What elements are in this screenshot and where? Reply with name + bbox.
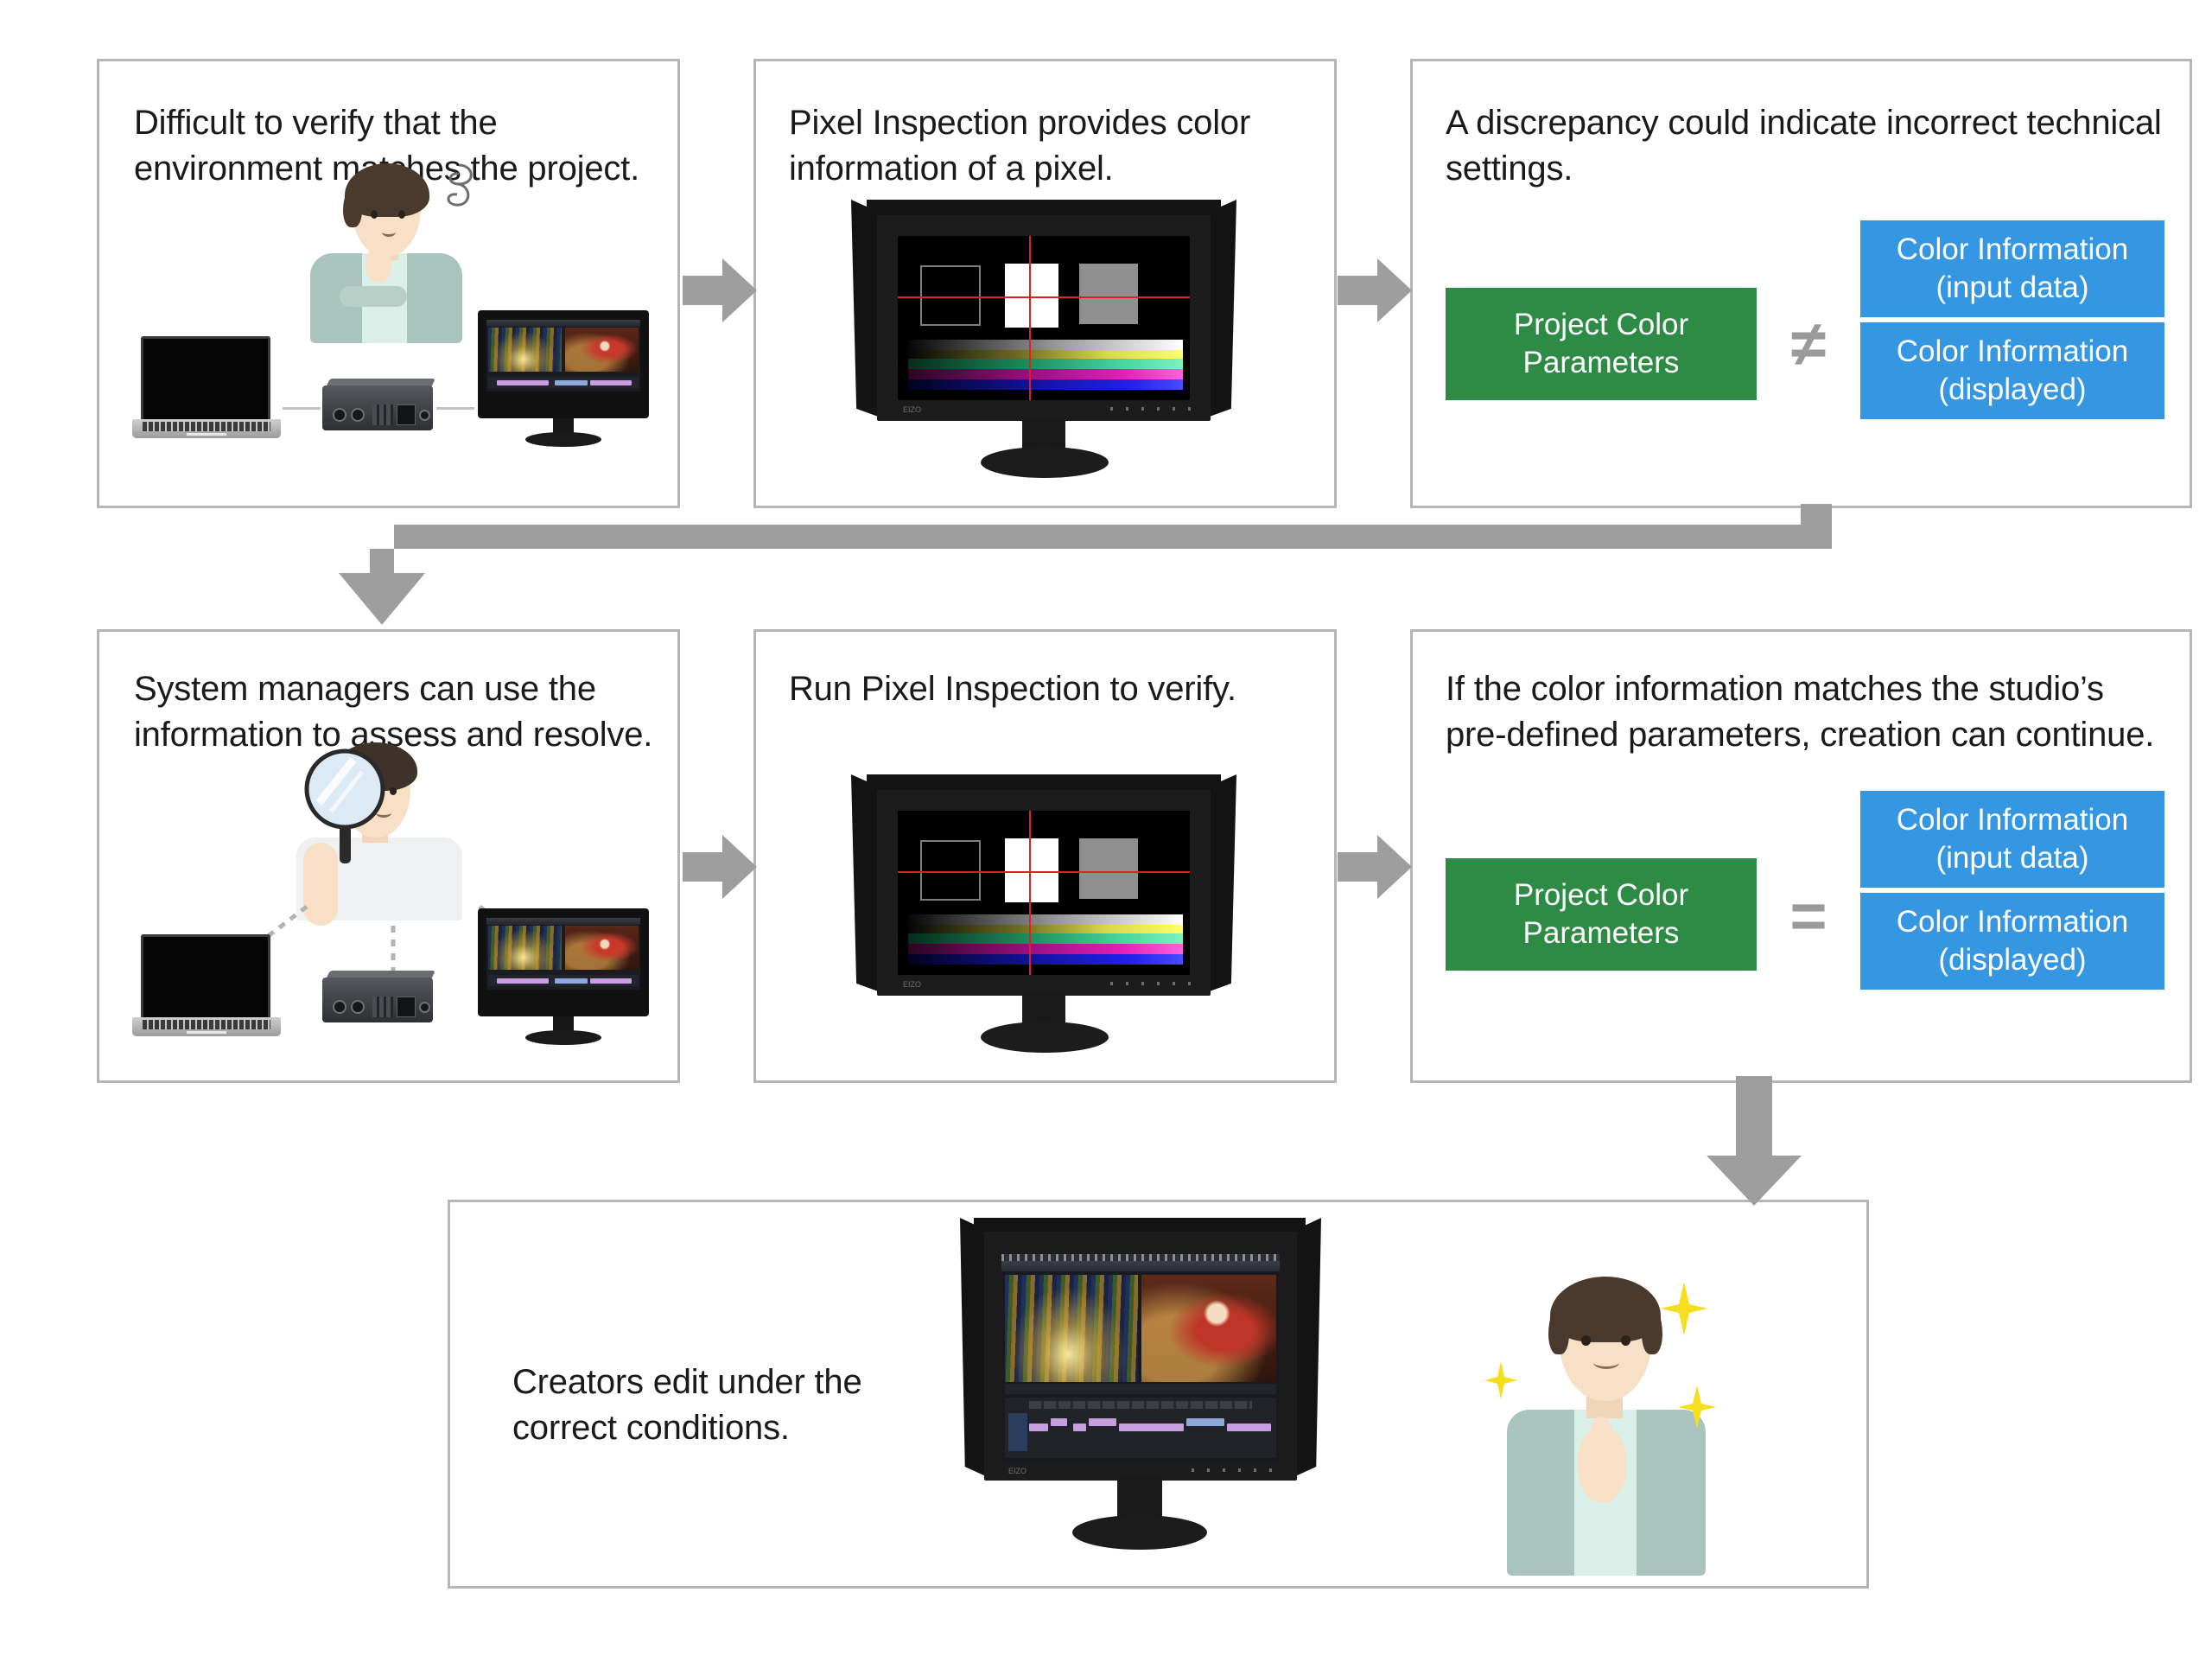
monitor-screen — [486, 320, 640, 391]
timeline-clip — [590, 380, 631, 385]
pixel-inspection-monitor: EIZO — [851, 200, 1240, 485]
test-pattern-white-square — [1005, 838, 1058, 902]
monitor-hood-left — [851, 774, 880, 992]
timeline-clip — [1089, 1418, 1116, 1426]
confusion-spiral-icon — [419, 156, 480, 217]
timeline-panel — [488, 975, 639, 986]
laptop-illustration — [132, 336, 281, 440]
cable-device-to-monitor — [436, 407, 474, 410]
creator-eye-left — [371, 210, 378, 219]
timeline-clip — [1227, 1424, 1270, 1431]
project-color-parameters-box-bottom: Project Color Parameters — [1446, 858, 1757, 971]
editing-app-screen — [1001, 1254, 1280, 1463]
test-pattern-dark-square — [920, 265, 981, 326]
monitor-frame — [478, 310, 649, 418]
preview-archer-scene — [565, 926, 639, 970]
timeline-clip — [1186, 1418, 1224, 1426]
creator-mouth — [382, 227, 396, 237]
laptop-trackpad — [186, 1030, 227, 1035]
gradient-bar-blue — [908, 954, 1183, 965]
preview-forest-scene — [488, 328, 563, 372]
video-device-knob-1 — [333, 408, 346, 422]
creator-hair-side — [343, 186, 362, 227]
reference-monitor-illustration — [478, 908, 649, 1047]
comparison-group-not-equal: Project Color Parameters ≠ Color Informa… — [1413, 61, 2190, 506]
timeline-clip — [1073, 1424, 1087, 1431]
timeline-clip — [497, 978, 548, 984]
monitor-hood-left — [851, 200, 880, 417]
creator-hand — [365, 246, 391, 283]
laptop-keyboard — [143, 1020, 270, 1029]
panel-2-caption: Pixel Inspection provides color informat… — [789, 100, 1250, 192]
app-toolbar — [1001, 1261, 1280, 1271]
panel-run-pixel-inspection: Run Pixel Inspection to verify. EIZO — [753, 629, 1337, 1083]
not-equal-sign: ≠ — [1774, 312, 1843, 376]
creator-smile — [1593, 1356, 1619, 1369]
diagram-canvas: Difficult to verify that the environment… — [0, 0, 2212, 1656]
panel-creators-edit-correct-conditions: Creators edit under the correct conditio… — [448, 1200, 1869, 1589]
video-device-knob-2 — [351, 408, 365, 422]
preview-forest-scene — [1005, 1275, 1138, 1382]
confused-creator-figure — [300, 156, 473, 342]
timeline-clip — [555, 978, 588, 984]
timeline-panel — [1005, 1398, 1276, 1458]
creator-arm — [340, 286, 407, 307]
arrow-panel4-to-panel5 — [683, 831, 757, 902]
eizo-logo: EIZO — [903, 405, 921, 414]
panel-color-information-matches: If the color information matches the stu… — [1410, 629, 2192, 1083]
gradient-bar-yellow — [908, 925, 1183, 933]
timeline-clip — [1051, 1418, 1067, 1426]
panel-pixel-inspection-provides: Pixel Inspection provides color informat… — [753, 59, 1337, 508]
reference-monitor-illustration — [478, 310, 649, 449]
preview-forest-scene — [488, 926, 563, 970]
test-pattern-white-square — [1005, 264, 1058, 328]
gradient-bar-blue — [908, 379, 1183, 390]
laptop-illustration — [132, 934, 281, 1038]
laptop-trackpad — [186, 432, 227, 436]
pixel-inspection-monitor: EIZO — [851, 774, 1240, 1060]
arrow-panel2-to-panel3 — [1338, 255, 1412, 326]
monitor-hood-right — [1207, 200, 1236, 417]
video-device-knob-1 — [333, 1000, 346, 1014]
sparkle-icon-top — [1661, 1282, 1707, 1335]
preview-archer-scene — [565, 328, 639, 372]
arrow-row2-to-result — [1707, 1076, 1802, 1206]
panel-difficult-to-verify: Difficult to verify that the environment… — [97, 59, 680, 508]
crosshair-vertical-lower — [1029, 338, 1031, 392]
test-pattern-gray-square — [1079, 838, 1138, 899]
timeline-clip — [590, 978, 631, 984]
arrow-panel1-to-panel2 — [683, 255, 757, 326]
timeline-ruler — [1029, 1401, 1252, 1409]
gradient-bar-green — [908, 359, 1183, 369]
magnifying-glass-icon — [300, 746, 395, 867]
gradient-bar-yellow — [908, 350, 1183, 359]
eizo-logo: EIZO — [1008, 1467, 1027, 1475]
panel-discrepancy-indicates: A discrepancy could indicate incorrect t… — [1410, 59, 2192, 508]
equals-sign: = — [1774, 884, 1843, 948]
laptop-screen — [141, 336, 270, 419]
gradient-bar-monochrome — [908, 914, 1183, 925]
crosshair-horizontal — [898, 296, 1190, 298]
laptop-keyboard — [143, 422, 270, 431]
timeline-panel — [488, 377, 639, 388]
system-manager-figure — [279, 736, 478, 917]
video-device-illustration — [322, 978, 433, 1026]
crosshair-horizontal — [898, 871, 1190, 873]
monitor-stand — [981, 1022, 1109, 1053]
sparkle-icon-left — [1484, 1361, 1517, 1399]
monitor-base — [525, 1030, 601, 1046]
timeline-clip — [555, 380, 588, 385]
gradient-bar-monochrome — [908, 340, 1183, 350]
laptop-screen — [141, 934, 270, 1017]
timeline-clip — [1119, 1424, 1184, 1431]
timeline-track-header — [1008, 1413, 1027, 1451]
video-device-buttons — [372, 997, 393, 1017]
gradient-bar-green — [908, 933, 1183, 944]
inspection-screen — [898, 811, 1190, 975]
monitor-base — [525, 432, 601, 448]
creator-hair-side-left — [1548, 1304, 1569, 1354]
video-device-dial — [419, 1002, 430, 1013]
timeline-clip — [497, 380, 548, 385]
editing-monitor-large: EIZO — [960, 1218, 1323, 1581]
sparkle-icon-right — [1678, 1385, 1716, 1429]
gradient-bar-magenta — [908, 369, 1183, 379]
panel-7-caption: Creators edit under the correct conditio… — [512, 1360, 862, 1451]
test-pattern-dark-square — [920, 840, 981, 901]
transport-controls — [1005, 1384, 1276, 1394]
timeline-clip — [1029, 1424, 1048, 1431]
monitor-indicator-leds — [1192, 1468, 1278, 1472]
color-information-displayed-box-top: Color Information (displayed) — [1860, 322, 2164, 419]
test-pattern-gray-square — [1079, 264, 1138, 324]
color-information-input-box-bottom: Color Information (input data) — [1860, 791, 2164, 888]
panel-system-managers: System managers can use the information … — [97, 629, 680, 1083]
creator-eye-left — [1581, 1335, 1591, 1346]
crosshair-vertical-lower — [1029, 913, 1031, 966]
app-toolbar — [486, 918, 640, 924]
eizo-logo: EIZO — [903, 980, 921, 989]
video-device-illustration — [322, 385, 433, 434]
color-information-displayed-box-bottom: Color Information (displayed) — [1860, 893, 2164, 990]
monitor-indicator-leds — [1110, 982, 1197, 985]
project-color-parameters-box-top: Project Color Parameters — [1446, 288, 1757, 400]
inspection-screen — [898, 236, 1190, 400]
creator-eye-right — [1621, 1335, 1630, 1346]
arrow-panel5-to-panel6 — [1338, 831, 1412, 902]
happy-creator-figure — [1500, 1264, 1716, 1576]
gradient-bar-magenta — [908, 944, 1183, 954]
panel-5-caption: Run Pixel Inspection to verify. — [789, 666, 1236, 712]
monitor-stand — [981, 447, 1109, 478]
creator-eye-right — [398, 210, 405, 219]
arrow-row1-to-row2 — [328, 504, 1832, 625]
app-menu-strip — [1001, 1254, 1280, 1261]
creator-thumb — [1590, 1417, 1612, 1453]
video-device-buttons — [372, 404, 393, 425]
comparison-group-equal: Project Color Parameters = Color Informa… — [1413, 632, 2190, 1080]
monitor-hood-right — [1294, 1218, 1321, 1477]
video-device-knob-2 — [351, 1000, 365, 1014]
color-information-input-box-top: Color Information (input data) — [1860, 220, 2164, 317]
monitor-stand — [1072, 1515, 1207, 1550]
monitor-frame — [478, 908, 649, 1016]
app-toolbar — [486, 320, 640, 326]
monitor-screen — [486, 918, 640, 989]
monitor-hood-right — [1207, 774, 1236, 992]
video-device-display — [397, 997, 416, 1017]
video-device-display — [397, 404, 416, 425]
monitor-indicator-leds — [1110, 407, 1197, 411]
video-device-dial — [419, 410, 430, 421]
preview-archer-scene — [1141, 1275, 1276, 1382]
cable-laptop-to-device — [283, 407, 321, 410]
